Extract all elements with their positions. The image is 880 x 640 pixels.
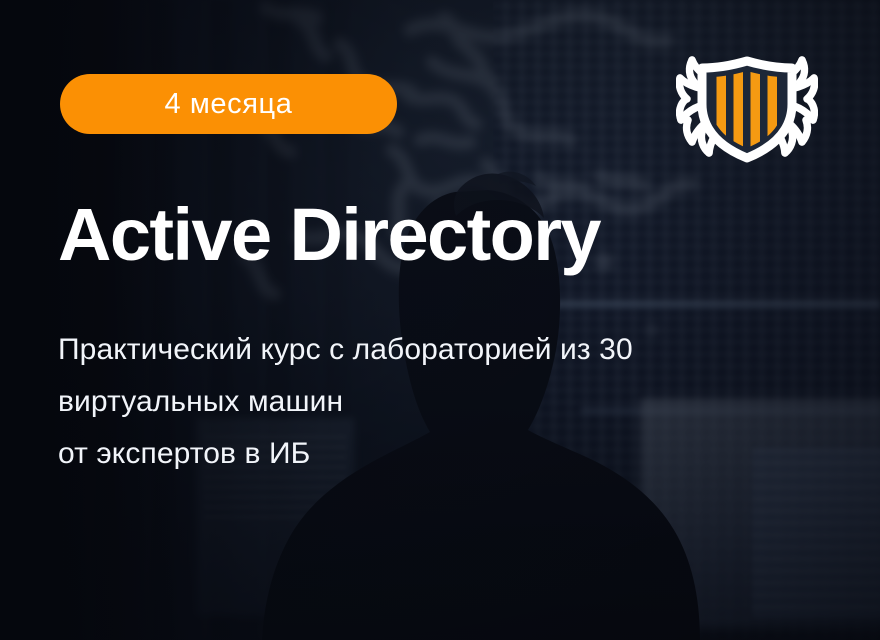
beetle-shield-logo-icon bbox=[676, 52, 818, 164]
duration-badge-label: 4 месяца bbox=[165, 90, 293, 119]
banner-content: 4 месяца bbox=[0, 0, 880, 640]
course-description: Практический курс с лабораторией из 30 в… bbox=[58, 324, 798, 480]
description-line-2: виртуальных машин bbox=[58, 376, 798, 428]
course-promo-banner: 4 месяца bbox=[0, 0, 880, 640]
page-title: Active Directory bbox=[58, 198, 600, 272]
duration-badge[interactable]: 4 месяца bbox=[60, 74, 397, 134]
description-line-1: Практический курс с лабораторией из 30 bbox=[58, 324, 798, 376]
description-line-3: от экспертов в ИБ bbox=[58, 428, 798, 480]
